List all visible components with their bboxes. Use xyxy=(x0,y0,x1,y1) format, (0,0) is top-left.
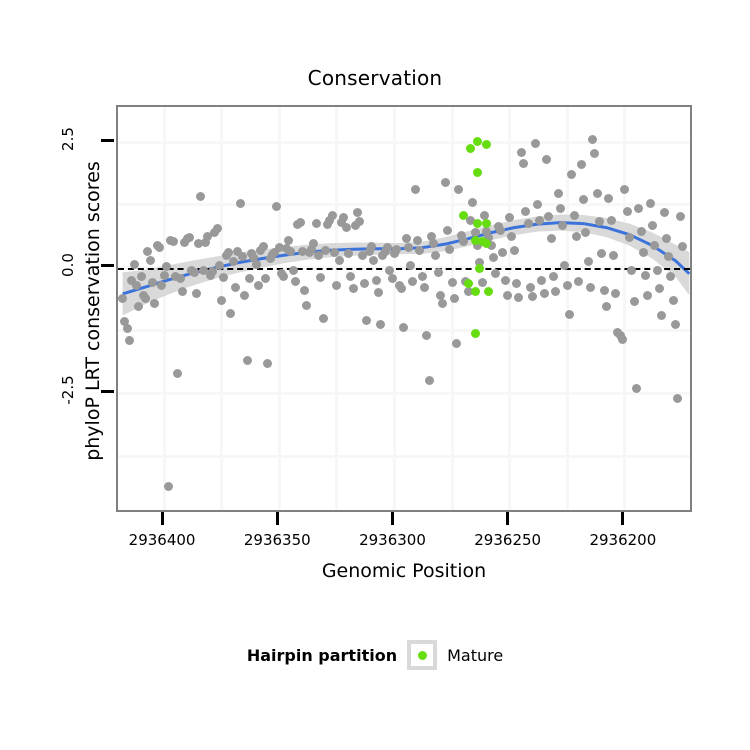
data-point-background xyxy=(321,246,330,255)
data-point-background xyxy=(224,248,233,257)
data-point-background xyxy=(632,384,641,393)
data-point-background xyxy=(360,279,369,288)
data-point-background xyxy=(627,266,636,275)
data-point-background xyxy=(431,251,440,260)
data-point-mature xyxy=(482,140,491,149)
data-point-background xyxy=(355,217,364,226)
data-point-background xyxy=(213,224,222,233)
data-point-background xyxy=(524,219,533,228)
y-axis-tick xyxy=(101,390,114,393)
data-point-background xyxy=(143,247,152,256)
data-point-background xyxy=(535,216,544,225)
data-point-background xyxy=(169,237,178,246)
gridline-horizontal xyxy=(118,203,690,206)
plot-panel xyxy=(116,105,692,512)
data-point-mature xyxy=(471,329,480,338)
data-point-background xyxy=(146,256,155,265)
data-point-background xyxy=(397,284,406,293)
x-axis-tick-label: 2936250 xyxy=(448,531,568,549)
data-point-background xyxy=(411,185,420,194)
data-point-mature xyxy=(473,168,482,177)
data-point-background xyxy=(528,292,537,301)
legend-key-inner xyxy=(411,644,433,666)
data-point-background xyxy=(349,284,358,293)
data-point-background xyxy=(581,228,590,237)
data-point-background xyxy=(533,200,542,209)
data-point-background xyxy=(231,283,240,292)
gridline-vertical xyxy=(623,107,626,510)
gridline-vertical-minor xyxy=(220,107,223,510)
data-point-background xyxy=(676,212,685,221)
data-point-mature xyxy=(471,287,480,296)
data-point-background xyxy=(399,323,408,332)
data-point-background xyxy=(639,248,648,257)
data-point-background xyxy=(669,296,678,305)
data-point-background xyxy=(123,324,132,333)
data-point-background xyxy=(634,204,643,213)
data-point-background xyxy=(643,291,652,300)
data-point-background xyxy=(243,356,252,365)
data-point-background xyxy=(542,155,551,164)
data-point-background xyxy=(406,261,415,270)
legend: Hairpin partition Mature xyxy=(0,640,750,670)
data-point-background xyxy=(648,221,657,230)
data-point-background xyxy=(448,278,457,287)
x-axis-tick xyxy=(506,512,509,525)
data-point-background xyxy=(478,278,487,287)
data-point-background xyxy=(549,272,558,281)
data-point-background xyxy=(160,271,169,280)
data-point-background xyxy=(418,272,427,281)
gridline-horizontal xyxy=(118,141,690,144)
y-axis-title: phyloP LRT conservation scores xyxy=(82,101,104,521)
y-axis-tick xyxy=(101,139,114,142)
data-point-background xyxy=(261,274,270,283)
x-axis-tick xyxy=(391,512,394,525)
gridline-vertical-minor xyxy=(566,107,569,510)
y-axis-tick xyxy=(101,264,114,267)
data-point-background xyxy=(236,199,245,208)
data-point-mature xyxy=(484,287,493,296)
data-point-background xyxy=(319,314,328,323)
data-point-background xyxy=(422,331,431,340)
data-point-background xyxy=(556,204,565,213)
data-point-background xyxy=(300,286,309,295)
data-point-background xyxy=(623,207,632,216)
data-point-background xyxy=(660,208,669,217)
data-point-background xyxy=(130,260,139,269)
chart-title: Conservation xyxy=(0,66,750,90)
data-point-background xyxy=(558,221,567,230)
data-point-background xyxy=(342,223,351,232)
gridline-vertical xyxy=(508,107,511,510)
data-point-background xyxy=(459,237,468,246)
data-point-background xyxy=(369,256,378,265)
data-point-background xyxy=(517,148,526,157)
data-point-background xyxy=(496,226,505,235)
data-point-background xyxy=(309,239,318,248)
data-point-background xyxy=(604,194,613,203)
data-point-mature xyxy=(464,279,473,288)
data-point-background xyxy=(657,311,666,320)
gridline-vertical-minor xyxy=(335,107,338,510)
data-point-background xyxy=(155,243,164,252)
data-point-background xyxy=(512,279,521,288)
data-point-background xyxy=(302,301,311,310)
data-point-background xyxy=(577,160,586,169)
data-point-background xyxy=(162,262,171,271)
data-point-background xyxy=(137,272,146,281)
data-point-background xyxy=(335,256,344,265)
data-point-background xyxy=(148,278,157,287)
legend-key-mature[interactable] xyxy=(407,640,437,670)
data-point-background xyxy=(646,199,655,208)
data-point-background xyxy=(503,291,512,300)
legend-point-icon xyxy=(418,651,427,660)
data-point-background xyxy=(332,281,341,290)
data-point-background xyxy=(286,247,295,256)
data-point-background xyxy=(229,257,238,266)
data-point-background xyxy=(584,257,593,266)
data-point-background xyxy=(353,208,362,217)
data-point-background xyxy=(443,226,452,235)
data-point-background xyxy=(176,274,185,283)
data-point-background xyxy=(519,159,528,168)
x-axis-tick xyxy=(276,512,279,525)
legend-title: Hairpin partition xyxy=(247,646,397,665)
data-point-background xyxy=(190,268,199,277)
data-point-background xyxy=(505,213,514,222)
data-point-background xyxy=(547,234,556,243)
data-point-background xyxy=(452,339,461,348)
data-point-background xyxy=(132,281,141,290)
data-point-mature xyxy=(473,219,482,228)
data-point-background xyxy=(441,178,450,187)
data-point-background xyxy=(653,266,662,275)
data-point-mature xyxy=(473,137,482,146)
data-point-background xyxy=(438,299,447,308)
data-point-background xyxy=(402,234,411,243)
data-point-background xyxy=(630,297,639,306)
gridline-vertical xyxy=(163,107,166,510)
data-point-background xyxy=(413,236,422,245)
x-axis-tick xyxy=(621,512,624,525)
data-point-background xyxy=(554,189,563,198)
data-point-background xyxy=(551,287,560,296)
data-point-background xyxy=(590,149,599,158)
data-point-background xyxy=(607,216,616,225)
data-point-background xyxy=(650,241,659,250)
data-point-background xyxy=(489,253,498,262)
gridline-vertical xyxy=(278,107,281,510)
data-point-background xyxy=(346,272,355,281)
data-point-background xyxy=(196,192,205,201)
data-point-background xyxy=(540,289,549,298)
data-point-background xyxy=(254,281,263,290)
data-point-background xyxy=(664,252,673,261)
data-point-background xyxy=(602,302,611,311)
data-point-background xyxy=(316,273,325,282)
data-point-background xyxy=(641,271,650,280)
data-point-background xyxy=(655,284,664,293)
gridline-vertical xyxy=(393,107,396,510)
data-point-background xyxy=(178,287,187,296)
data-point-background xyxy=(597,249,606,258)
data-point-background xyxy=(408,277,417,286)
y-axis-tick-label: 2.5 xyxy=(59,109,77,169)
legend-label-mature: Mature xyxy=(447,646,503,665)
data-point-background xyxy=(625,233,634,242)
data-point-background xyxy=(572,232,581,241)
data-point-background xyxy=(344,249,353,258)
data-point-background xyxy=(531,139,540,148)
data-point-background xyxy=(372,276,381,285)
data-point-background xyxy=(263,359,272,368)
data-point-background xyxy=(567,170,576,179)
data-point-background xyxy=(570,211,579,220)
data-point-background xyxy=(521,207,530,216)
data-point-background xyxy=(429,239,438,248)
data-point-background xyxy=(362,316,371,325)
data-point-background xyxy=(611,289,620,298)
data-point-background xyxy=(510,246,519,255)
data-point-background xyxy=(238,252,247,261)
data-point-background xyxy=(678,242,687,251)
data-point-background xyxy=(192,289,201,298)
data-point-background xyxy=(600,286,609,295)
conservation-scatter-figure: Conservation phyloP LRT conservation sco… xyxy=(0,0,750,750)
data-point-background xyxy=(537,276,546,285)
data-point-background xyxy=(501,276,510,285)
x-axis-tick-label: 2936350 xyxy=(217,531,337,549)
data-point-background xyxy=(374,288,383,297)
data-point-background xyxy=(593,189,602,198)
data-point-background xyxy=(420,283,429,292)
data-point-mature xyxy=(459,211,468,220)
data-point-mature xyxy=(466,144,475,153)
data-point-background xyxy=(185,233,194,242)
gridline-horizontal xyxy=(118,392,690,395)
data-point-background xyxy=(565,310,574,319)
data-point-background xyxy=(526,283,535,292)
x-axis-tick-label: 2936300 xyxy=(332,531,452,549)
data-point-background xyxy=(312,219,321,228)
data-point-background xyxy=(328,211,337,220)
data-point-background xyxy=(367,242,376,251)
data-point-background xyxy=(118,294,127,303)
data-point-background xyxy=(226,309,235,318)
data-point-background xyxy=(245,274,254,283)
data-point-background xyxy=(637,227,646,236)
data-point-background xyxy=(289,266,298,275)
data-point-background xyxy=(415,246,424,255)
data-point-background xyxy=(454,185,463,194)
data-point-background xyxy=(125,336,134,345)
data-point-background xyxy=(404,243,413,252)
data-point-background xyxy=(219,273,228,282)
data-point-background xyxy=(514,293,523,302)
gridline-horizontal xyxy=(118,455,690,458)
y-axis-tick-label: 0.0 xyxy=(59,235,77,295)
data-point-background xyxy=(291,277,300,286)
data-point-background xyxy=(450,294,459,303)
data-point-background xyxy=(134,302,143,311)
data-point-background xyxy=(609,251,618,260)
data-point-background xyxy=(544,212,553,221)
gridline-vertical-minor xyxy=(451,107,454,510)
data-point-background xyxy=(620,185,629,194)
data-point-background xyxy=(339,213,348,222)
data-point-background xyxy=(164,482,173,491)
data-point-background xyxy=(296,218,305,227)
data-point-background xyxy=(434,268,443,277)
data-point-background xyxy=(574,277,583,286)
x-axis-tick-label: 2936200 xyxy=(563,531,683,549)
data-point-background xyxy=(252,260,261,269)
data-point-background xyxy=(141,294,150,303)
data-point-background xyxy=(563,281,572,290)
data-point-background xyxy=(279,272,288,281)
x-axis-tick xyxy=(161,512,164,525)
data-point-background xyxy=(498,248,507,257)
data-point-background xyxy=(376,320,385,329)
y-axis-tick-label: -2.5 xyxy=(59,360,77,420)
x-axis-title: Genomic Position xyxy=(116,560,692,582)
data-point-background xyxy=(618,335,627,344)
data-point-background xyxy=(240,291,249,300)
x-axis-tick-label: 2936400 xyxy=(102,531,222,549)
data-point-background xyxy=(662,234,671,243)
data-point-background xyxy=(259,242,268,251)
data-point-background xyxy=(150,299,159,308)
data-point-background xyxy=(425,376,434,385)
data-point-mature xyxy=(475,264,484,273)
data-point-mature xyxy=(482,219,491,228)
data-point-background xyxy=(671,320,680,329)
data-point-background xyxy=(666,272,675,281)
data-point-background xyxy=(586,283,595,292)
data-point-background xyxy=(217,296,226,305)
data-point-background xyxy=(673,394,682,403)
data-point-background xyxy=(507,232,516,241)
data-point-background xyxy=(491,269,500,278)
data-point-background xyxy=(392,245,401,254)
data-point-background xyxy=(595,217,604,226)
data-point-background xyxy=(284,236,293,245)
data-point-background xyxy=(215,261,224,270)
data-point-background xyxy=(173,369,182,378)
